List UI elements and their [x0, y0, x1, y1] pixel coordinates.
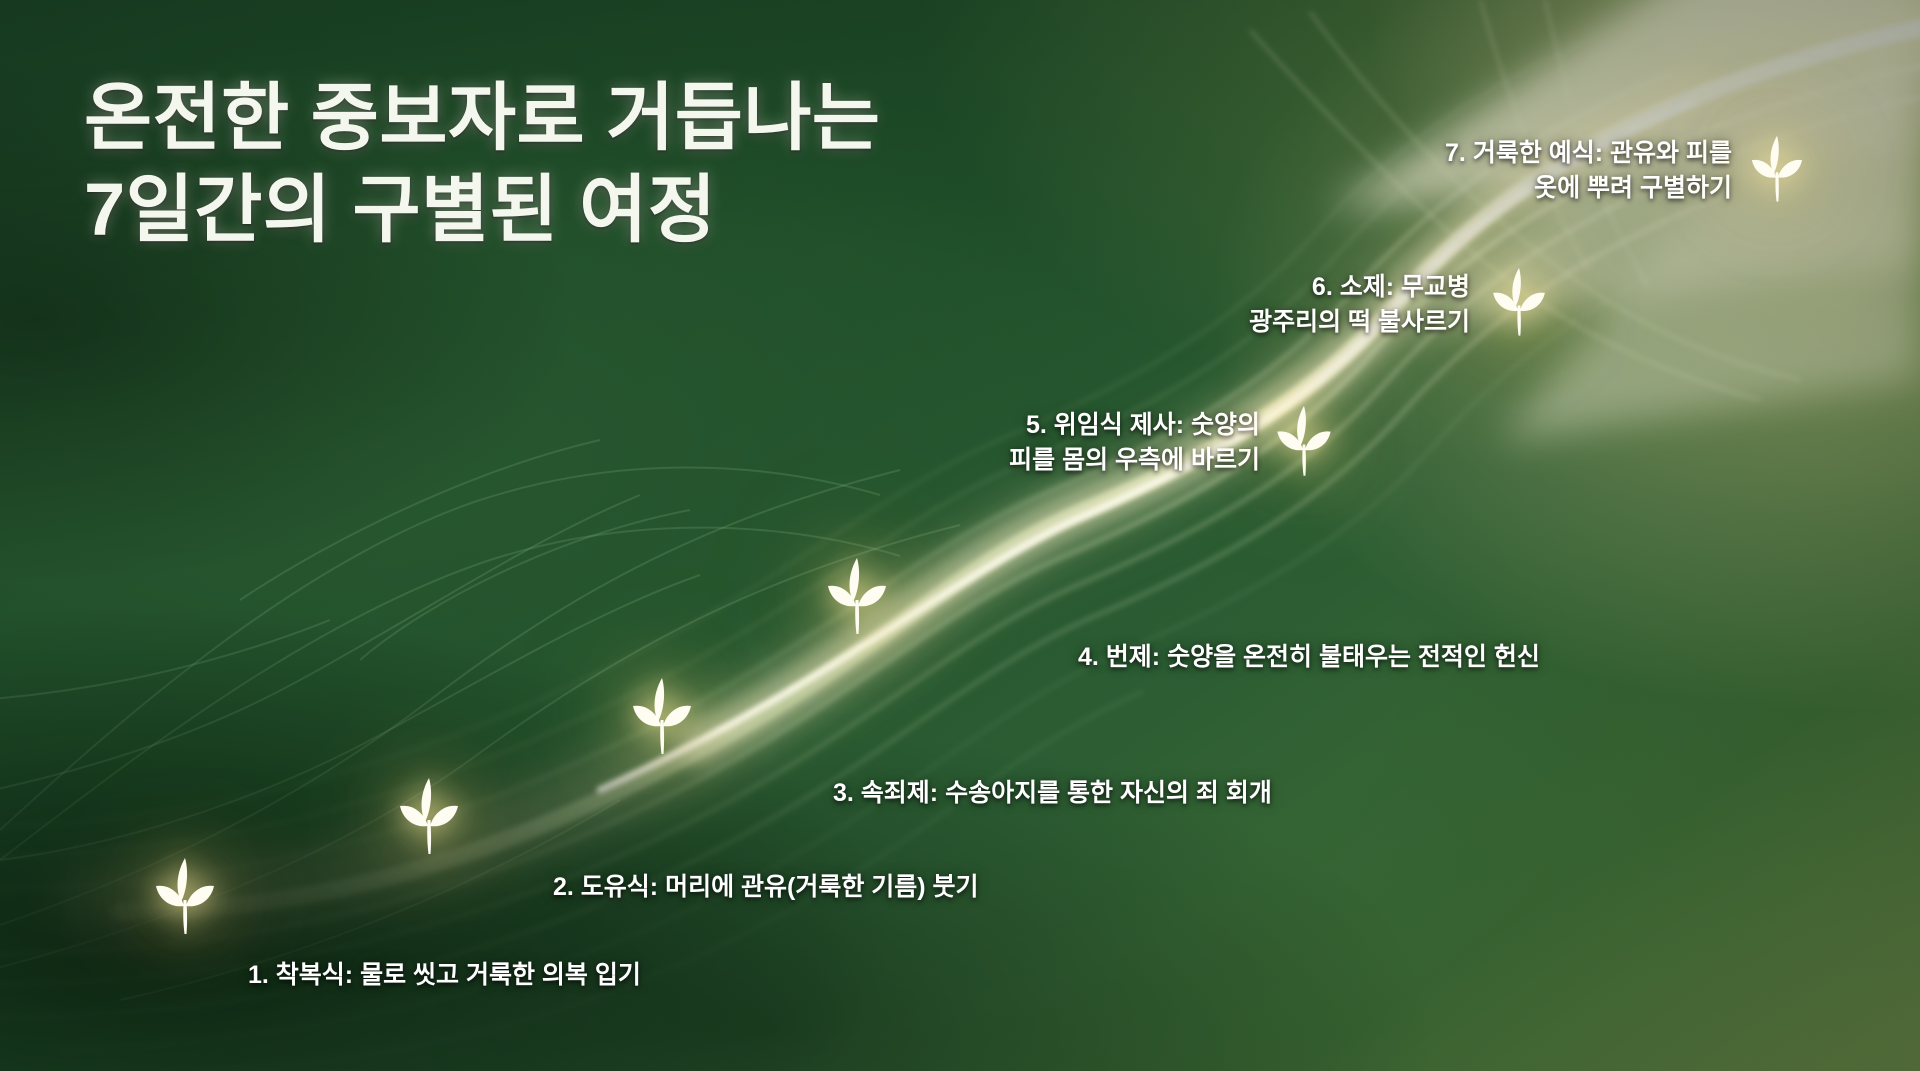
page-title: 온전한 중보자로 거듭나는 7일간의 구별된 여정: [84, 72, 881, 256]
step-label-6: 6. 소제: 무교병 광주리의 떡 불사르기: [1249, 270, 1470, 339]
title-line-1: 온전한 중보자로 거듭나는: [84, 72, 881, 164]
title-line-2: 7일간의 구별된 여정: [84, 164, 881, 256]
sprout-icon: [625, 672, 699, 756]
sprout-icon: [1270, 400, 1338, 478]
sprout-icon: [1745, 130, 1809, 204]
step-item-6[interactable]: 6. 소제: 무교병 광주리의 떡 불사르기: [1170, 270, 1470, 339]
sprout-icon: [820, 552, 894, 636]
step-item-3[interactable]: 3. 속죄제: 수송아지를 통한 자신의 죄 회개: [833, 776, 1272, 811]
step-label-7: 7. 거룩한 예식: 관유와 피를 옷에 뿌려 구별하기: [1445, 136, 1732, 205]
step-item-2[interactable]: 2. 도유식: 머리에 관유(거룩한 기름) 붓기: [553, 870, 979, 905]
sprout-icon: [148, 852, 222, 936]
step-item-7[interactable]: 7. 거룩한 예식: 관유와 피를 옷에 뿌려 구별하기: [1340, 136, 1732, 205]
slide-canvas: 온전한 중보자로 거듭나는 7일간의 구별된 여정: [0, 0, 1920, 1071]
sprout-icon: [1486, 262, 1552, 338]
step-item-4[interactable]: 4. 번제: 숫양을 온전히 불태우는 전적인 헌신: [1078, 640, 1540, 675]
step-label-3: 3. 속죄제: 수송아지를 통한 자신의 죄 회개: [833, 776, 1272, 811]
step-label-1: 1. 착복식: 물로 씻고 거룩한 의복 입기: [248, 958, 641, 993]
step-label-2: 2. 도유식: 머리에 관유(거룩한 기름) 붓기: [553, 870, 979, 905]
sprout-icon: [392, 772, 466, 856]
step-item-1[interactable]: 1. 착복식: 물로 씻고 거룩한 의복 입기: [248, 958, 641, 993]
step-label-4: 4. 번제: 숫양을 온전히 불태우는 전적인 헌신: [1078, 640, 1540, 675]
step-item-5[interactable]: 5. 위임식 제사: 숫양의 피를 몸의 우측에 바르기: [930, 408, 1260, 477]
step-label-5: 5. 위임식 제사: 숫양의 피를 몸의 우측에 바르기: [1009, 408, 1260, 477]
